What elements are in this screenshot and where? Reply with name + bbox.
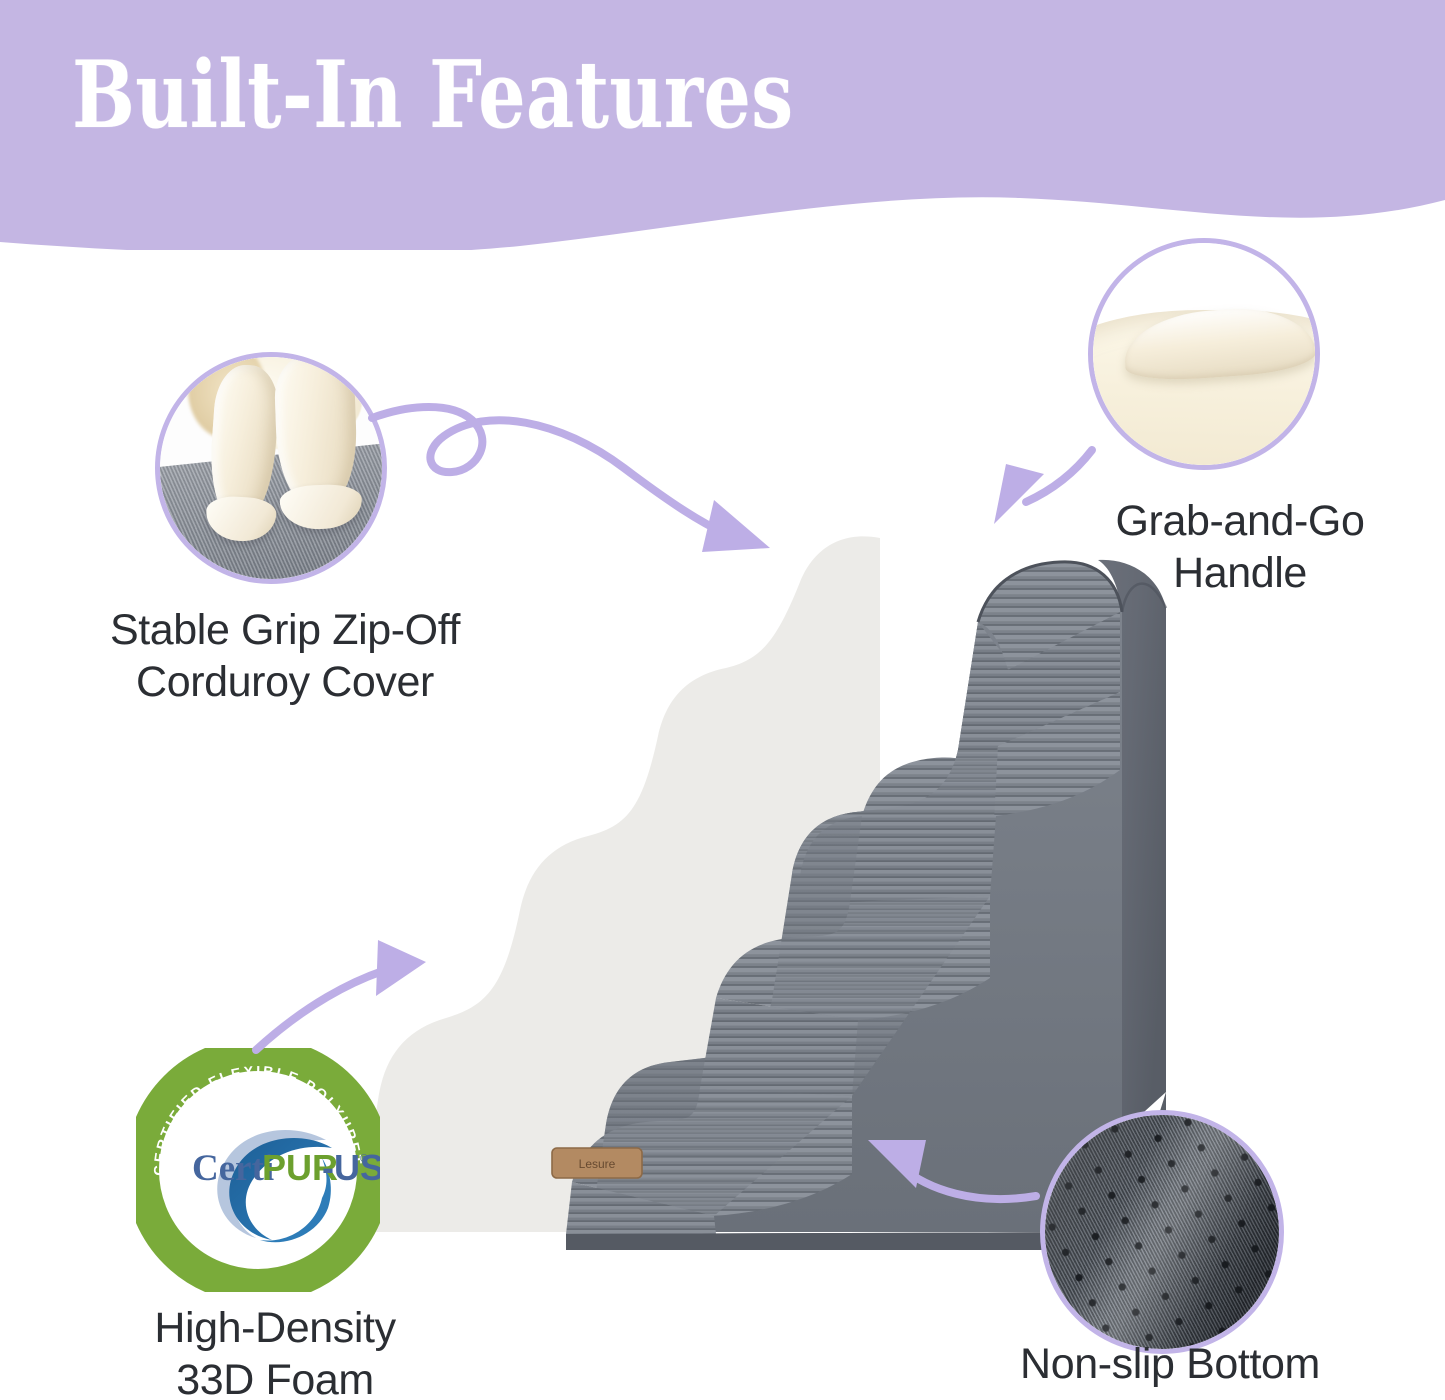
infographic-page: Built-In Features bbox=[0, 0, 1445, 1400]
fabric-handle-closeup-photo bbox=[1093, 243, 1315, 465]
header-banner: Built-In Features bbox=[0, 0, 1445, 250]
callout-image-non-slip-bottom[interactable] bbox=[1040, 1110, 1284, 1354]
page-title: Built-In Features bbox=[72, 48, 794, 141]
badge-registered-mark: ® bbox=[360, 1153, 368, 1165]
label-grab-and-go-handle: Grab-and-Go Handle bbox=[1040, 495, 1440, 600]
label-stable-grip-cover: Stable Grip Zip-Off Corduroy Cover bbox=[30, 604, 540, 709]
svg-text:Lesure: Lesure bbox=[579, 1157, 616, 1171]
certipur-us-badge[interactable]: CONTAINS CERTIFIED FLEXIBLE POLYURETHANE… bbox=[136, 1048, 380, 1292]
label-non-slip-bottom: Non-slip Bottom bbox=[955, 1338, 1385, 1390]
brand-tag: Lesure bbox=[552, 1148, 642, 1178]
callout-image-grab-and-go-handle[interactable] bbox=[1088, 238, 1320, 470]
non-slip-dotted-fabric-photo bbox=[1045, 1115, 1279, 1349]
callout-image-stable-grip-cover[interactable] bbox=[155, 352, 387, 584]
badge-wordmark-us: -US bbox=[322, 1147, 380, 1188]
label-high-density-foam: High-Density 33D Foam bbox=[55, 1302, 495, 1400]
dog-paws-on-corduroy-photo bbox=[160, 357, 382, 579]
